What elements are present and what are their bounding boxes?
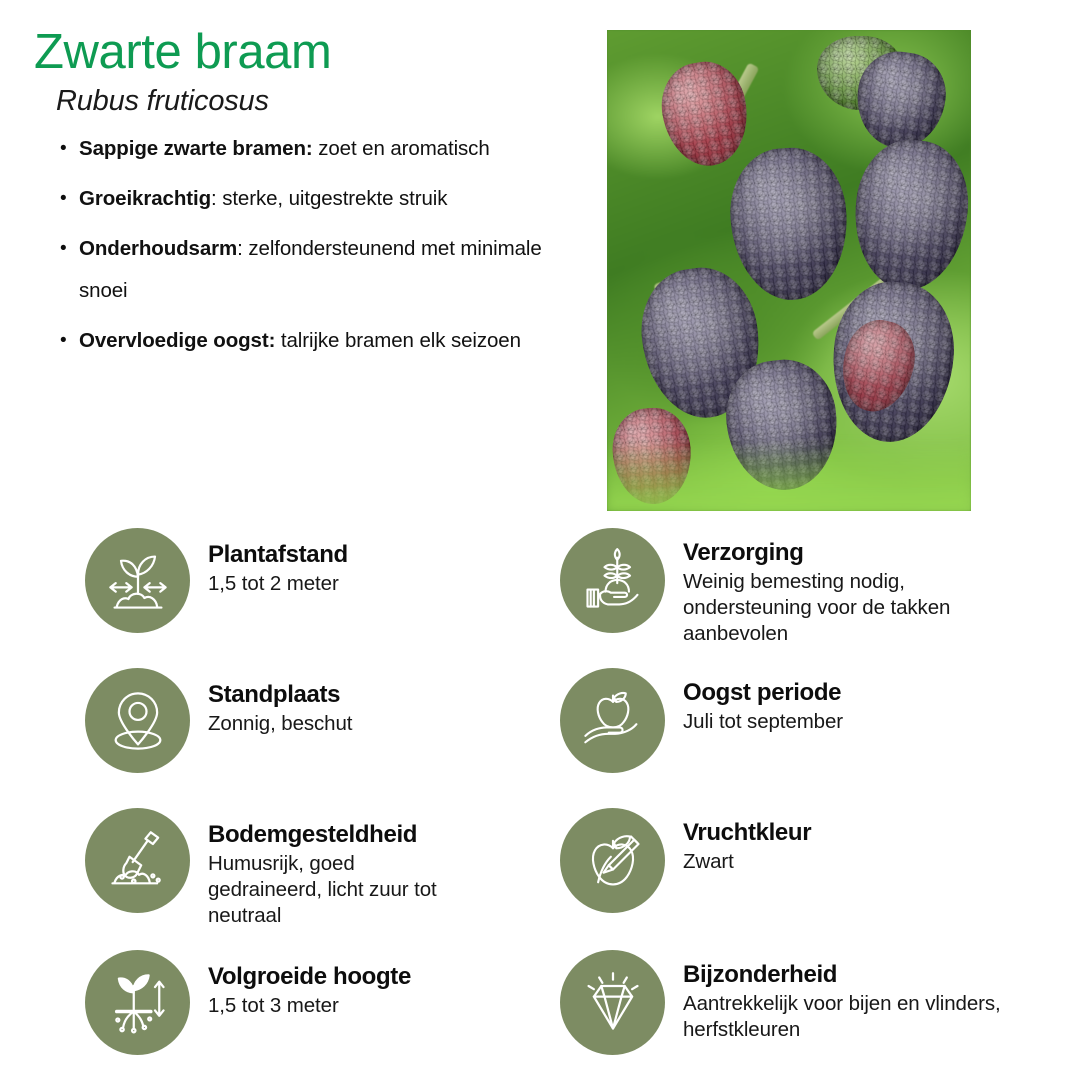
bullet-icon: • <box>60 320 79 362</box>
feature-title: Standplaats <box>208 682 352 709</box>
feature-body: Bijzonderheid Aantrekkelijk voor bijen e… <box>665 950 1003 1043</box>
bullet-icon: • <box>60 178 79 220</box>
benefit-text: Sappige zwarte bramen: zoet en aromatisc… <box>79 128 490 170</box>
list-item: • Groeikrachtig: sterke, uitgestrekte st… <box>60 178 580 220</box>
feature-volgroeide-hoogte: Volgroeide hoogte 1,5 tot 3 meter <box>85 950 411 1055</box>
feature-desc: 1,5 tot 2 meter <box>208 571 348 597</box>
apple-brush-icon <box>560 808 665 913</box>
benefit-text: Onderhoudsarm: zelfondersteunend met min… <box>79 228 580 312</box>
feature-title: Verzorging <box>683 540 983 567</box>
seedling-spacing-icon <box>85 528 190 633</box>
header: Zwarte braam Rubus fruticosus <box>34 26 594 118</box>
feature-body: Vruchtkleur Zwart <box>665 808 811 875</box>
benefit-label: Groeikrachtig <box>79 187 211 210</box>
list-item: • Sappige zwarte bramen: zoet en aromati… <box>60 128 580 170</box>
feature-title: Oogst periode <box>683 680 843 707</box>
benefit-detail: zoet en aromatisch <box>313 137 490 160</box>
feature-desc: Zwart <box>683 849 811 875</box>
feature-verzorging: Verzorging Weinig bemesting nodig, onder… <box>560 528 983 648</box>
plant-height-icon <box>85 950 190 1055</box>
page-title: Zwarte braam <box>34 26 594 79</box>
feature-title: Vruchtkleur <box>683 820 811 847</box>
benefit-detail: talrijke bramen elk seizoen <box>275 329 521 352</box>
feature-grid: Plantafstand 1,5 tot 2 meter Standplaats… <box>0 510 1080 1080</box>
feature-desc: Weinig bemesting nodig, ondersteuning vo… <box>683 569 983 648</box>
latin-name: Rubus fruticosus <box>56 85 594 118</box>
bullet-icon: • <box>60 128 79 170</box>
feature-body: Volgroeide hoogte 1,5 tot 3 meter <box>190 950 411 1019</box>
benefit-text: Groeikrachtig: sterke, uitgestrekte stru… <box>79 178 447 220</box>
list-item: • Onderhoudsarm: zelfondersteunend met m… <box>60 228 580 312</box>
feature-bodemgesteldheid: Bodemgesteldheid Humusrijk, goed gedrain… <box>85 808 458 930</box>
location-pin-icon <box>85 668 190 773</box>
feature-desc: Aantrekkelijk voor bijen en vlinders, he… <box>683 991 1003 1043</box>
benefit-label: Overvloedige oogst: <box>79 329 275 352</box>
apple-hand-icon <box>560 668 665 773</box>
feature-title: Bodemgesteldheid <box>208 822 458 849</box>
feature-body: Oogst periode Juli tot september <box>665 668 843 735</box>
feature-vruchtkleur: Vruchtkleur Zwart <box>560 808 811 913</box>
feature-desc: Humusrijk, goed gedraineerd, licht zuur … <box>208 851 458 930</box>
list-item: • Overvloedige oogst: talrijke bramen el… <box>60 320 580 362</box>
feature-body: Verzorging Weinig bemesting nodig, onder… <box>665 528 983 648</box>
feature-body: Bodemgesteldheid Humusrijk, goed gedrain… <box>190 808 458 930</box>
feature-bijzonderheid: Bijzonderheid Aantrekkelijk voor bijen e… <box>560 950 1003 1055</box>
feature-desc: Juli tot september <box>683 709 843 735</box>
diamond-icon <box>560 950 665 1055</box>
feature-standplaats: Standplaats Zonnig, beschut <box>85 668 352 773</box>
photo-bottom-blur <box>607 441 971 511</box>
feature-desc: Zonnig, beschut <box>208 711 352 737</box>
feature-title: Bijzonderheid <box>683 962 1003 989</box>
benefits-list: • Sappige zwarte bramen: zoet en aromati… <box>60 128 580 370</box>
feature-body: Standplaats Zonnig, beschut <box>190 668 352 737</box>
blackberry-photo <box>607 30 971 511</box>
feature-title: Volgroeide hoogte <box>208 964 411 991</box>
hand-plant-icon <box>560 528 665 633</box>
benefit-label: Onderhoudsarm <box>79 237 237 260</box>
benefit-detail: : sterke, uitgestrekte struik <box>211 187 447 210</box>
feature-desc: 1,5 tot 3 meter <box>208 993 411 1019</box>
feature-plantafstand: Plantafstand 1,5 tot 2 meter <box>85 528 348 633</box>
bullet-icon: • <box>60 228 79 270</box>
feature-oogst-periode: Oogst periode Juli tot september <box>560 668 843 773</box>
shovel-soil-icon <box>85 808 190 913</box>
benefit-label: Sappige zwarte bramen: <box>79 137 313 160</box>
feature-body: Plantafstand 1,5 tot 2 meter <box>190 528 348 597</box>
benefit-text: Overvloedige oogst: talrijke bramen elk … <box>79 320 521 362</box>
feature-title: Plantafstand <box>208 542 348 569</box>
